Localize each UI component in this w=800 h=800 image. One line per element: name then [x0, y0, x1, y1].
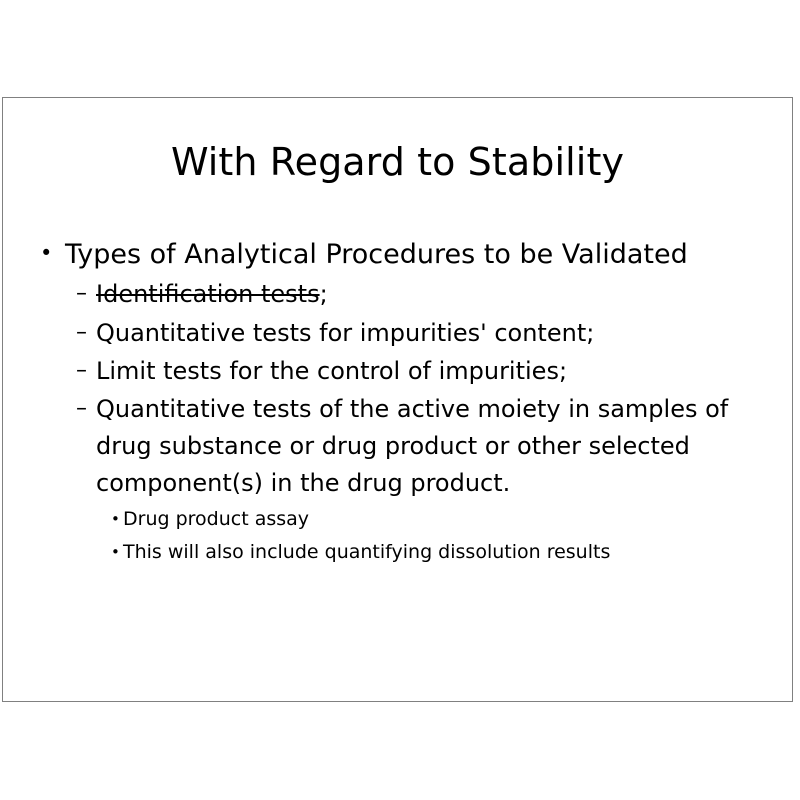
outline-item-label: This will also include quantifying disso…	[123, 536, 771, 569]
outline-item-label: Types of Analytical Procedures to be Val…	[65, 236, 771, 274]
outline-item-level3[interactable]: • This will also include quantifying dis…	[31, 536, 771, 569]
bullet-dot-icon: •	[40, 236, 65, 270]
slide-frame: With Regard to Stability • Types of Anal…	[2, 97, 793, 702]
outline-item-level1[interactable]: • Types of Analytical Procedures to be V…	[31, 236, 771, 274]
bullet-dash-icon: –	[76, 276, 96, 313]
strikethrough-text: Identification tests	[96, 280, 320, 308]
bullet-dash-icon: –	[76, 391, 96, 428]
outline-item-label: Identification tests;	[96, 276, 758, 313]
bullet-dash-icon: –	[76, 353, 96, 390]
outline-item-level2[interactable]: – Quantitative tests of the active moiet…	[31, 391, 771, 503]
bullet-dash-icon: –	[76, 315, 96, 352]
bullet-dot-icon: •	[111, 503, 123, 536]
outline-item-level2[interactable]: – Limit tests for the control of impurit…	[31, 353, 771, 390]
outline-item-trailing-punctuation: ;	[320, 280, 328, 308]
outline-item-label: Quantitative tests for impurities' conte…	[96, 315, 758, 352]
slide-title: With Regard to Stability	[3, 142, 792, 184]
bullet-dot-icon: •	[111, 536, 123, 569]
outline-item-level2-struck[interactable]: – Identification tests;	[31, 276, 771, 313]
outline-item-label: Drug product assay	[123, 503, 771, 536]
outline-item-label: Limit tests for the control of impuritie…	[96, 353, 758, 390]
outline-item-level2[interactable]: – Quantitative tests for impurities' con…	[31, 315, 771, 352]
slide-body-content: • Types of Analytical Procedures to be V…	[31, 236, 771, 569]
outline-item-level3[interactable]: • Drug product assay	[31, 503, 771, 536]
outline-item-label: Quantitative tests of the active moiety …	[96, 391, 758, 503]
